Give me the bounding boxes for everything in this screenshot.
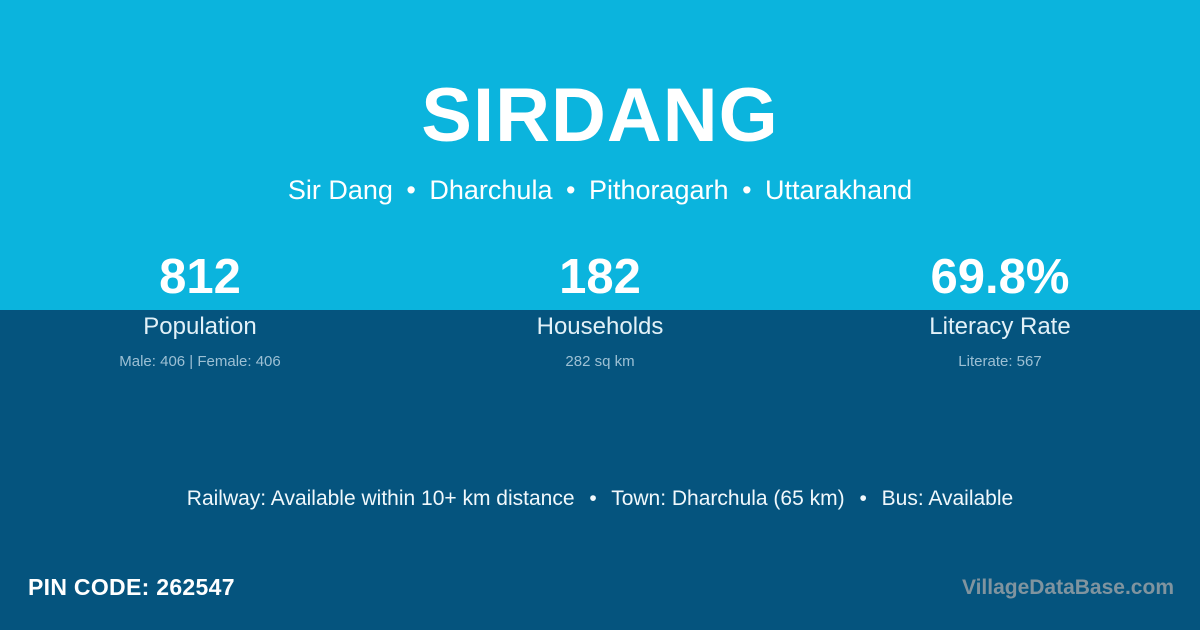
stat-sub-literacy: Literate: 567 xyxy=(800,352,1200,371)
facility-bus: Bus: Available xyxy=(882,487,1014,510)
brand-watermark: VillageDataBase.com xyxy=(962,574,1174,602)
stat-label-literacy: Literacy Rate xyxy=(800,312,1200,341)
breadcrumb-separator: • xyxy=(736,175,757,205)
stat-sub-population: Male: 406 | Female: 406 xyxy=(0,352,400,371)
stat-households: 182 Households 282 sq km xyxy=(400,246,800,371)
facility-railway: Railway: Available within 10+ km distanc… xyxy=(187,487,575,510)
stat-population: 812 Population Male: 406 | Female: 406 xyxy=(0,246,400,371)
stat-literacy: 69.8% Literacy Rate Literate: 567 xyxy=(800,246,1200,371)
breadcrumb: Sir Dang • Dharchula • Pithoragarh • Utt… xyxy=(0,160,1200,206)
card-footer: PIN CODE: 262547 VillageDataBase.com xyxy=(0,558,1200,630)
page-title: SIRDANG xyxy=(0,0,1200,160)
facility-separator: • xyxy=(580,487,605,510)
breadcrumb-block: Dharchula xyxy=(429,175,552,205)
breadcrumb-district: Pithoragarh xyxy=(589,175,729,205)
stat-label-population: Population xyxy=(0,312,400,341)
breadcrumb-separator: • xyxy=(400,175,421,205)
facility-separator: • xyxy=(850,487,875,510)
stat-sub-households: 282 sq km xyxy=(400,352,800,371)
pin-code: PIN CODE: 262547 xyxy=(28,572,235,602)
card-header: SIRDANG Sir Dang • Dharchula • Pithoraga… xyxy=(0,0,1200,206)
stats-row: 812 Population Male: 406 | Female: 406 1… xyxy=(0,246,1200,371)
stat-value-households: 182 xyxy=(400,246,800,308)
stat-value-literacy: 69.8% xyxy=(800,246,1200,308)
stat-value-population: 812 xyxy=(0,246,400,308)
facilities-line: Railway: Available within 10+ km distanc… xyxy=(0,485,1200,513)
village-info-card: SIRDANG Sir Dang • Dharchula • Pithoraga… xyxy=(0,0,1200,630)
breadcrumb-separator: • xyxy=(560,175,581,205)
breadcrumb-state: Uttarakhand xyxy=(765,175,912,205)
stat-label-households: Households xyxy=(400,312,800,341)
facility-town: Town: Dharchula (65 km) xyxy=(611,487,844,510)
breadcrumb-village: Sir Dang xyxy=(288,175,393,205)
